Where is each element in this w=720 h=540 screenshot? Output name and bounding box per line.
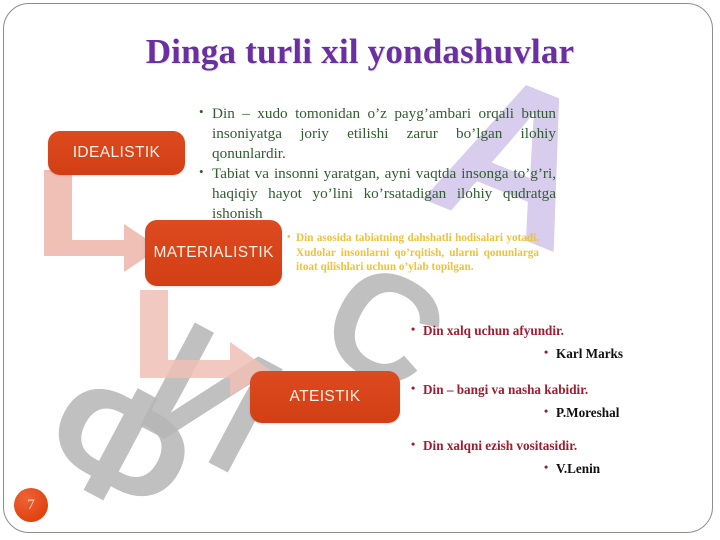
diagram-box-ateistik[interactable]: ATEISTIK: [250, 371, 400, 423]
page-number-badge: 7: [14, 488, 48, 522]
quote-text: Din – bangi va nasha kabidir.: [410, 382, 690, 398]
quote-v-lenin: Din xalqni ezish vositasidir. V.Lenin: [410, 438, 690, 477]
diagram-box-materialistik-label: MATERIALISTIK: [154, 244, 274, 262]
diagram-box-idealistik-label: IDEALISTIK: [73, 144, 161, 162]
page-title: Dinga turli xil yondashuvlar: [0, 32, 720, 72]
quote-karl-marks: Din xalq uchun afyundir. Karl Marks: [410, 323, 690, 362]
idealistik-bullet-list: Din – xudo tomonidan o’z payg’ambari orq…: [198, 104, 556, 224]
idealistik-bullet-2: Tabiat va insonni yaratgan, ayni vaqtda …: [212, 164, 556, 223]
quote-p-moreshal: Din – bangi va nasha kabidir. P.Moreshal: [410, 382, 690, 421]
materialistik-description-text: Din asosida tabiatning dahshatli hodisal…: [296, 232, 539, 273]
quote-text: Din xalqni ezish vositasidir.: [410, 438, 690, 454]
materialistik-description: • Din asosida tabiatning dahshatli hodis…: [296, 231, 539, 275]
quote-author: V.Lenin: [410, 461, 690, 477]
materialistik-bullet-icon: •: [287, 231, 291, 244]
quote-author: Karl Marks: [410, 346, 690, 362]
slide-canvas: А С И Ф Dinga turli xil yondashuvlar IDE…: [0, 0, 720, 540]
quote-author: P.Moreshal: [410, 405, 690, 421]
diagram-box-materialistik[interactable]: MATERIALISTIK: [145, 220, 282, 286]
idealistik-description: Din – xudo tomonidan o’z payg’ambari orq…: [198, 104, 556, 225]
idealistik-bullet-1: Din – xudo tomonidan o’z payg’ambari orq…: [212, 104, 556, 163]
diagram-box-ateistik-label: ATEISTIK: [290, 388, 361, 406]
quote-text: Din xalq uchun afyundir.: [410, 323, 690, 339]
diagram-box-idealistik[interactable]: IDEALISTIK: [48, 131, 185, 175]
